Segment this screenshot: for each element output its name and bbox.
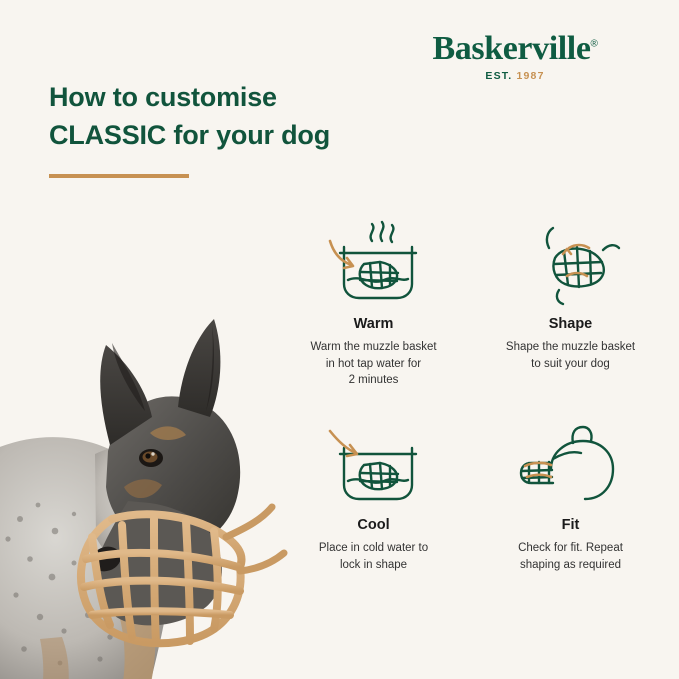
step-shape-desc-line-2: to suit your dog <box>531 358 610 370</box>
step-fit-desc-line-2: shaping as required <box>520 559 621 571</box>
steps-grid: Warm Warm the muzzle basket in hot tap w… <box>282 214 662 573</box>
step-fit: Fit Check for fit. Repeat shaping as req… <box>479 415 662 573</box>
step-warm-desc-line-3: 2 minutes <box>349 374 399 386</box>
step-fit-title: Fit <box>479 517 662 533</box>
step-warm-desc-line-1: Warm the muzzle basket <box>310 341 436 353</box>
step-shape-desc-line-1: Shape the muzzle basket <box>506 341 635 353</box>
fit-icon-wrap <box>479 415 662 511</box>
step-shape: Shape Shape the muzzle basket to suit yo… <box>479 214 662 389</box>
warm-icon-wrap <box>282 214 465 310</box>
step-warm-title: Warm <box>282 316 465 332</box>
step-cool: Cool Place in cold water to lock in shap… <box>282 415 465 573</box>
step-cool-title: Cool <box>282 517 465 533</box>
brand-est-year: 1987 <box>516 70 544 82</box>
step-shape-description: Shape the muzzle basket to suit your dog <box>479 339 662 372</box>
page-title-line-1: How to customise <box>49 82 277 112</box>
step-fit-description: Check for fit. Repeat shaping as require… <box>479 540 662 573</box>
brand-established: EST. 1987 <box>385 70 645 82</box>
page-title: How to customise CLASSIC for your dog <box>49 78 330 155</box>
muzzle-in-cold-water-icon <box>314 419 434 511</box>
shape-icon-wrap <box>479 214 662 310</box>
poster-canvas: Baskerville® EST. 1987 How to customise … <box>0 0 679 679</box>
shape-muzzle-icon <box>511 218 631 310</box>
brand-logo: Baskerville® EST. 1987 <box>385 32 645 82</box>
step-cool-desc-line-2: lock in shape <box>340 559 407 571</box>
muzzle-in-hot-water-icon <box>314 218 434 310</box>
step-cool-description: Place in cold water to lock in shape <box>282 540 465 573</box>
brand-name-text: Baskerville <box>433 30 591 67</box>
dog-photo-illustration <box>0 219 300 679</box>
dog-photo <box>0 219 300 679</box>
brand-est-word: EST. <box>485 70 512 82</box>
muzzle-on-dog-icon <box>511 419 631 511</box>
step-warm-desc-line-2: in hot tap water for <box>326 358 421 370</box>
step-fit-desc-line-1: Check for fit. Repeat <box>518 542 623 554</box>
page-title-line-2: CLASSIC for your dog <box>49 116 330 154</box>
step-shape-title: Shape <box>479 316 662 332</box>
registered-trademark-icon: ® <box>591 39 598 50</box>
title-underline-divider <box>49 174 189 178</box>
step-cool-desc-line-1: Place in cold water to <box>319 542 428 554</box>
step-warm: Warm Warm the muzzle basket in hot tap w… <box>282 214 465 389</box>
brand-name: Baskerville® <box>433 32 598 66</box>
cool-icon-wrap <box>282 415 465 511</box>
step-warm-description: Warm the muzzle basket in hot tap water … <box>282 339 465 389</box>
